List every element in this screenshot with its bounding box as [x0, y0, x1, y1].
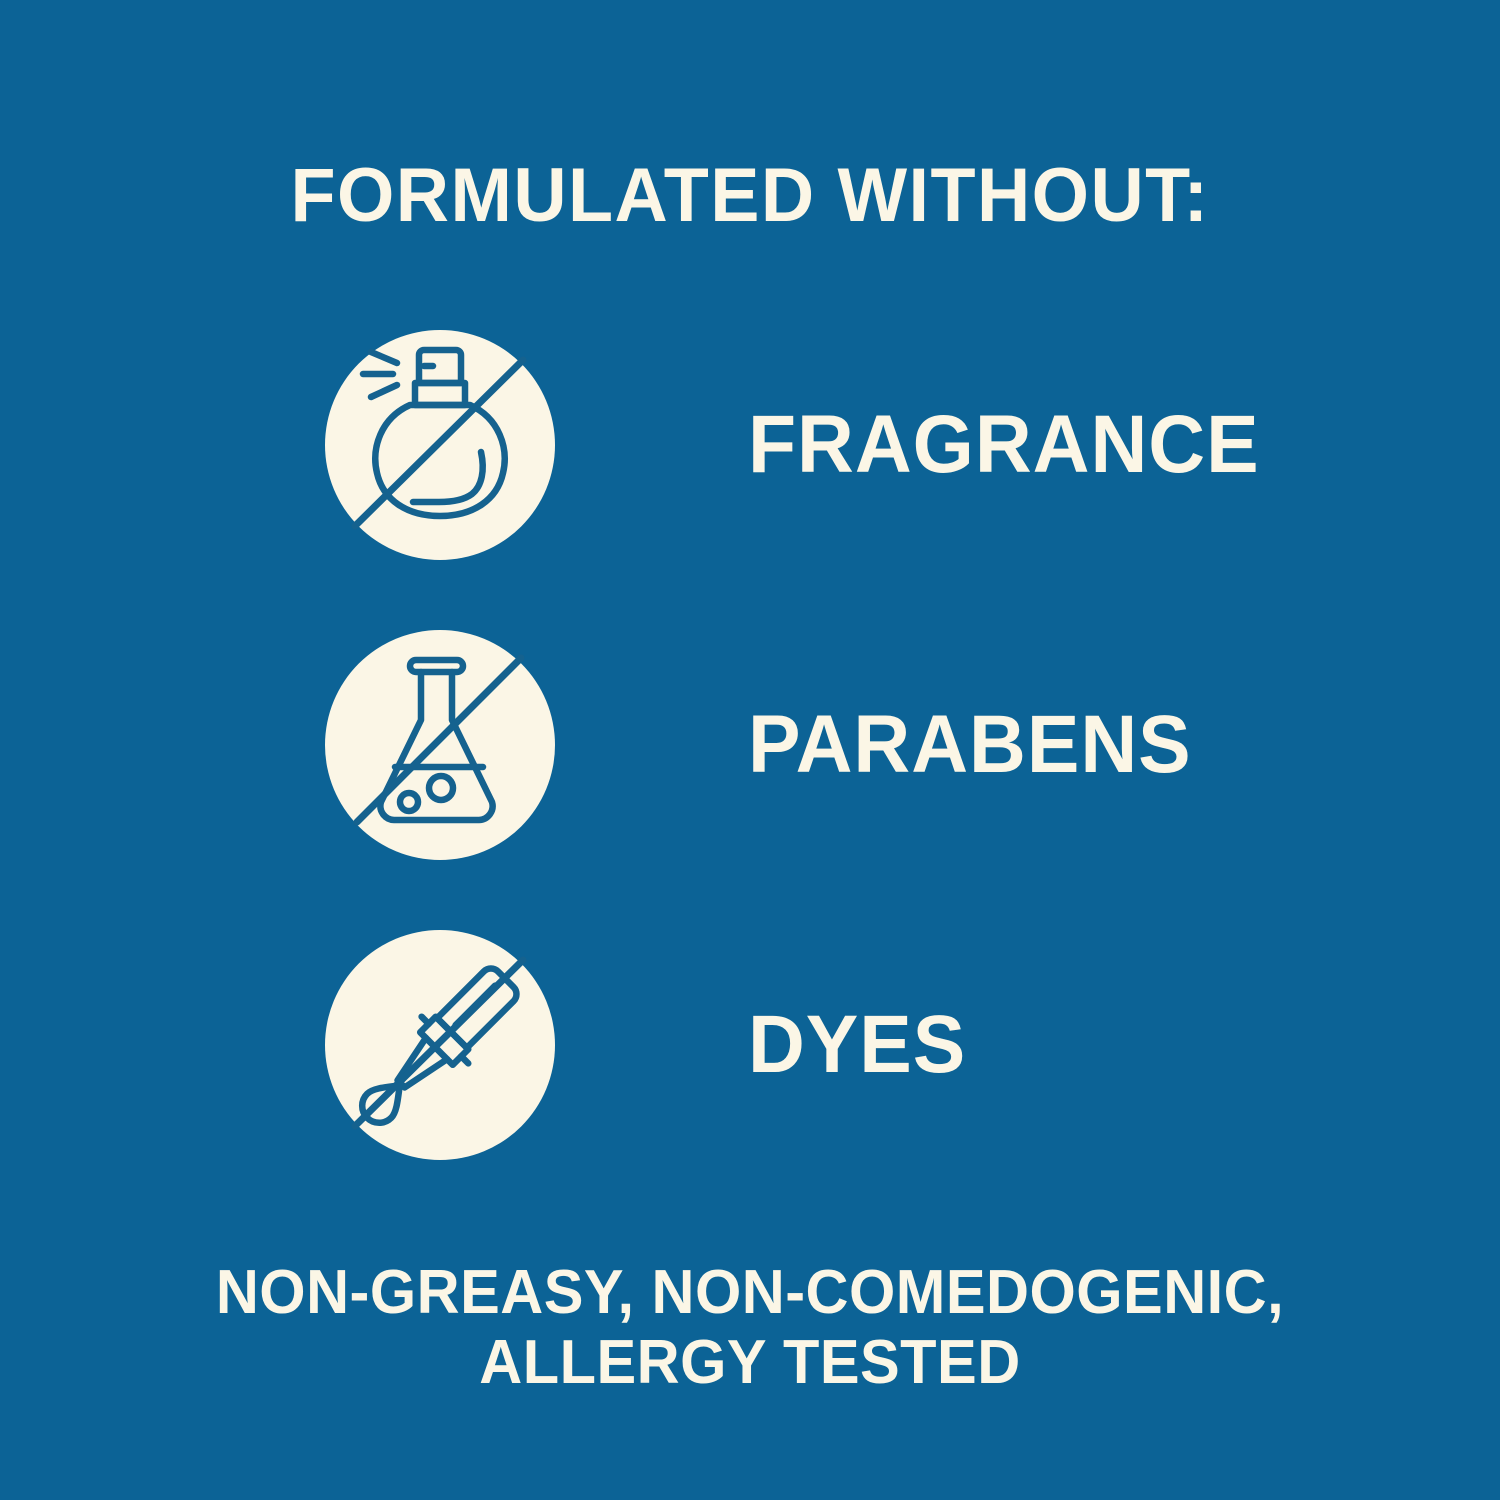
- footer-claims: NON-GREASY, NON-COMEDOGENIC, ALLERGY TES…: [0, 1258, 1500, 1398]
- formulated-without-panel: FORMULATED WITHOUT:: [0, 0, 1500, 1500]
- footer-line-1: NON-GREASY, NON-COMEDOGENIC,: [30, 1258, 1470, 1328]
- footer-line-2: ALLERGY TESTED: [30, 1328, 1470, 1398]
- list-item-label: PARABENS: [748, 704, 1192, 786]
- list-item: DYES: [0, 930, 1500, 1160]
- claims-list: FRAGRANCE: [0, 330, 1500, 1230]
- list-item-label: DYES: [748, 1004, 966, 1086]
- no-fragrance-bottle-icon: [325, 330, 555, 560]
- no-dropper-icon: [325, 930, 555, 1160]
- list-item: PARABENS: [0, 630, 1500, 860]
- no-flask-icon: [325, 630, 555, 860]
- list-item: FRAGRANCE: [0, 330, 1500, 560]
- list-item-label: FRAGRANCE: [748, 404, 1260, 486]
- page-title: FORMULATED WITHOUT:: [23, 158, 1478, 234]
